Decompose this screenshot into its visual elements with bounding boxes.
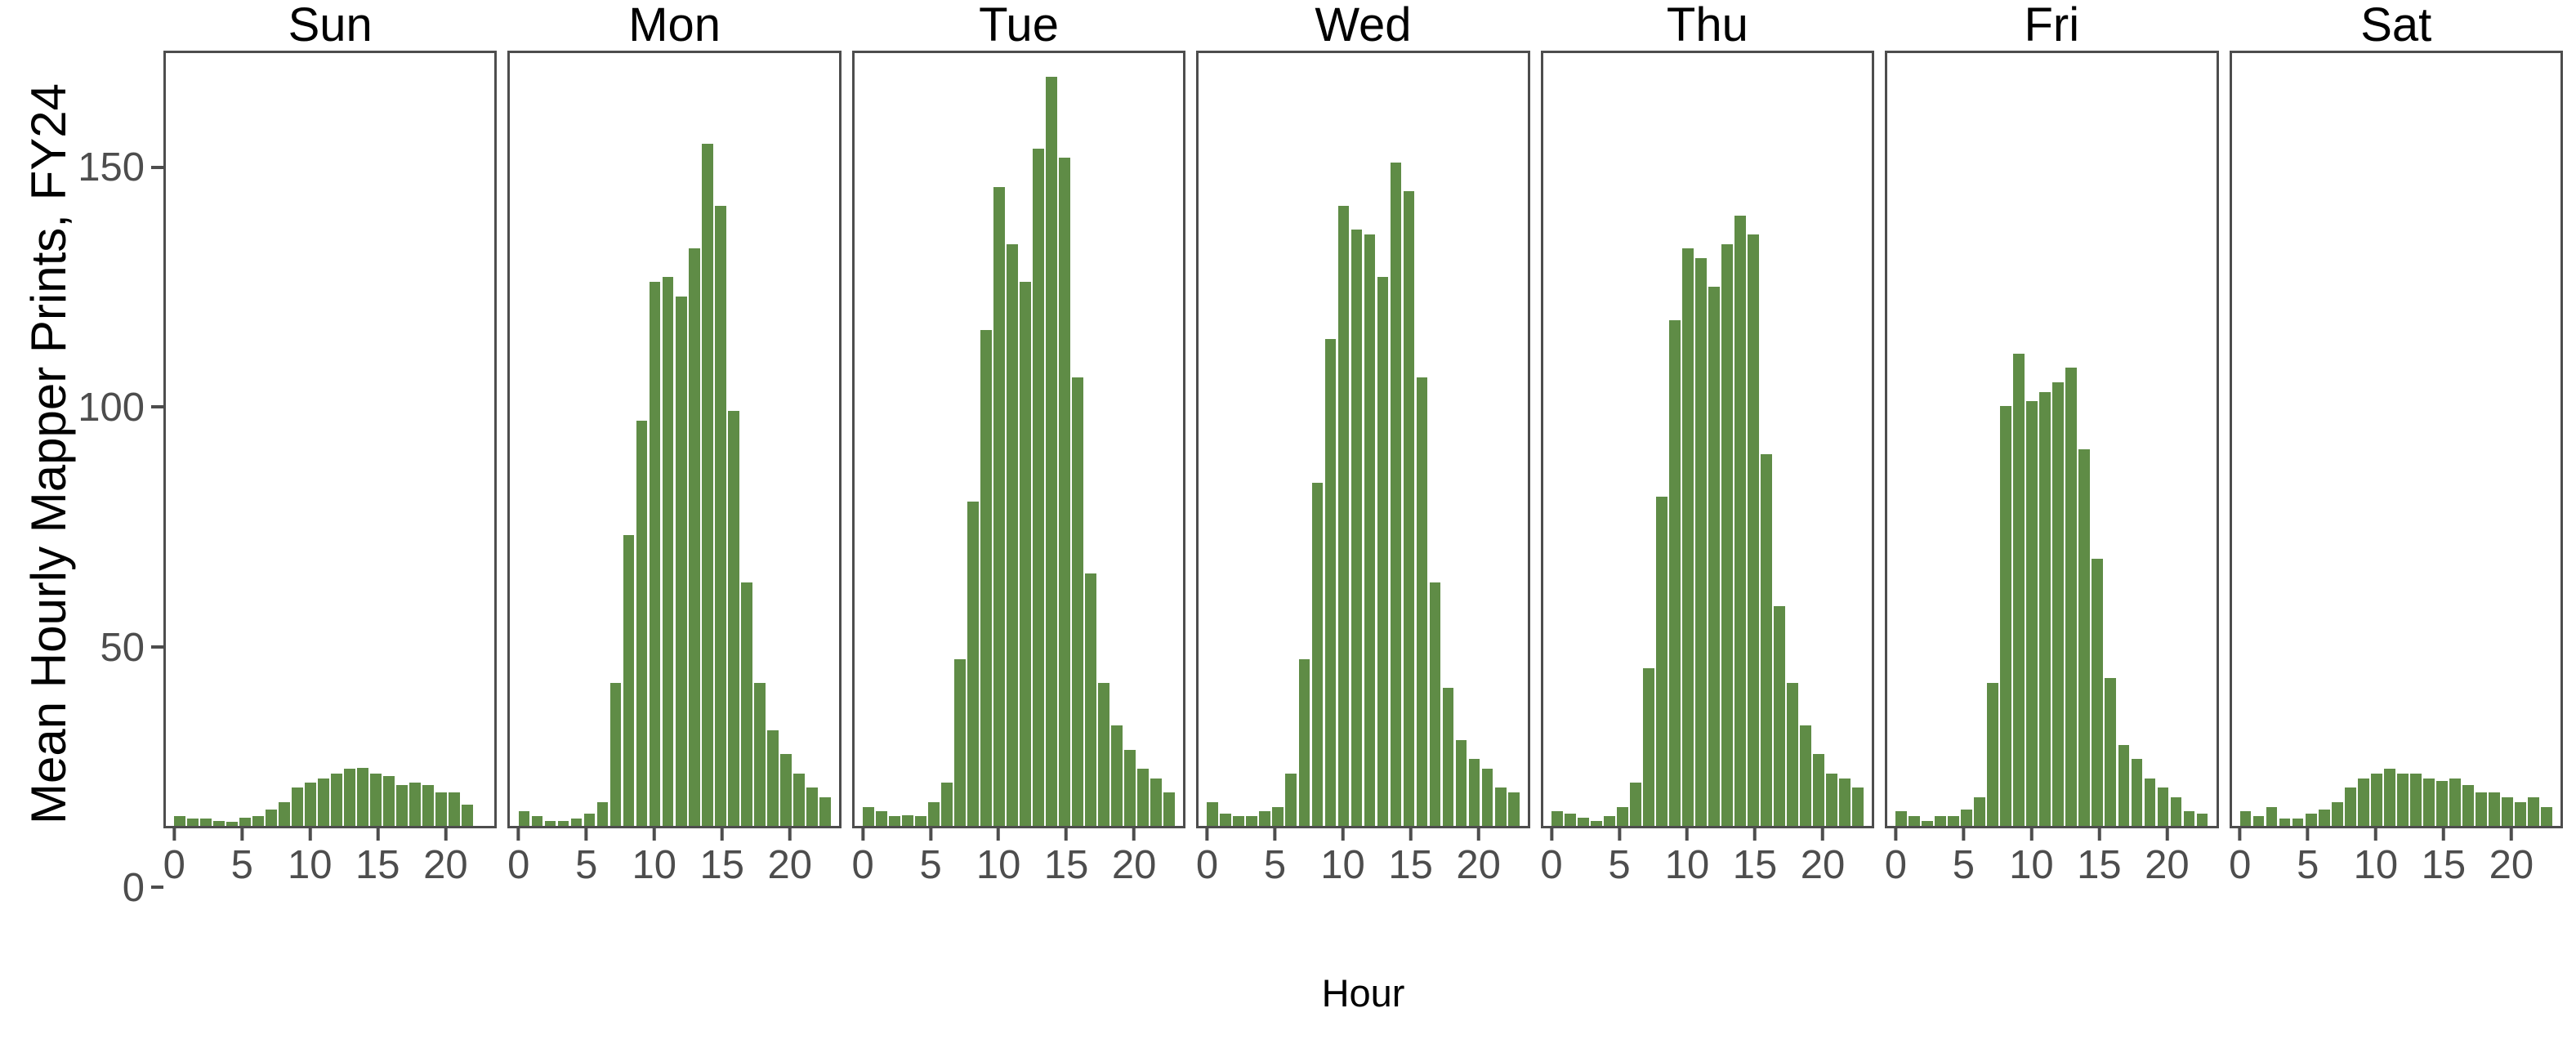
bar[interactable] [2184,811,2195,826]
bar[interactable] [1124,750,1136,826]
x-axis-tick-label: 15 [355,845,400,886]
bar-slot [1747,53,1760,826]
x-axis-tick: 0 [1196,828,1218,886]
bar[interactable] [2462,785,2474,826]
facet-panel-sun: Sun05101520 [163,0,497,907]
bar[interactable] [1734,216,1746,826]
bar[interactable] [597,802,609,826]
x-axis-tick: 10 [1665,828,1710,886]
bar[interactable] [623,535,635,826]
bar[interactable] [318,779,329,826]
bar[interactable] [741,582,752,826]
bar[interactable] [2197,814,2208,826]
bar[interactable] [2092,559,2103,826]
bar[interactable] [584,814,596,826]
bar-slot [1642,53,1655,826]
bar[interactable] [1551,811,1563,826]
facet-panel-thu: Thu05101520 [1541,0,1874,907]
bar[interactable] [2039,392,2051,826]
bar[interactable] [1748,234,1759,826]
bar[interactable] [915,816,926,826]
bar[interactable] [2253,816,2265,826]
bar-slot [1694,53,1708,826]
bar[interactable] [793,774,805,826]
bar[interactable] [1312,483,1324,826]
bar[interactable] [1325,339,1337,826]
x-axis-tick: 20 [1112,828,1157,886]
facet-strip-tue: Tue [852,0,1185,51]
bar-slot [2370,53,2383,826]
bar[interactable] [2515,802,2526,826]
bar[interactable] [1246,816,1257,826]
bar[interactable] [1721,244,1733,826]
bar[interactable] [1007,244,1018,826]
bar[interactable] [1150,779,1162,826]
bar[interactable] [344,769,355,826]
bar-slot [740,53,753,826]
bar-slot [1734,53,1747,826]
bar[interactable] [252,816,264,826]
bar[interactable] [1761,454,1772,826]
bar[interactable] [1826,774,1837,826]
bar[interactable] [1207,802,1218,826]
bar-slot [1150,53,1163,826]
bar-slot [408,53,422,826]
bar[interactable] [370,774,382,826]
x-axis-tick: 5 [231,828,253,886]
x-axis-tick-mark [1821,828,1824,841]
bar[interactable] [1813,754,1824,826]
bar[interactable] [1137,769,1149,826]
bar[interactable] [2026,401,2038,826]
bar-slot [543,53,556,826]
bar[interactable] [422,785,434,826]
bar-slot [2292,53,2305,826]
bar[interactable] [1909,816,1920,826]
x-axis-tick-label: 15 [2422,845,2467,886]
bar[interactable] [2145,779,2156,826]
bar[interactable] [1630,783,1641,826]
bar-slot [2252,53,2266,826]
bar[interactable] [1935,816,1946,826]
bar-slot [1629,53,1642,826]
x-axis-tick-label: 0 [163,845,185,886]
bar[interactable] [1046,77,1057,826]
bar-slot [888,53,901,826]
bar-slot [461,53,474,826]
bar[interactable] [1299,659,1310,826]
bar[interactable] [2132,759,2143,826]
x-axis-tick: 15 [1044,828,1089,886]
bar[interactable] [2000,406,2011,826]
x-axis-tick-mark [2306,828,2310,841]
bar[interactable] [1163,792,1175,826]
x-axis-tick-mark [1894,828,1897,841]
bar[interactable] [519,811,530,826]
plot-area-fri [1885,51,2218,828]
bar-group [510,53,838,826]
x-axis-tick-mark [2165,828,2168,841]
bar-slot [2078,53,2091,826]
x-axis-tick-label: 5 [231,845,253,886]
x-axis-tick-mark [1065,828,1068,841]
bar[interactable] [292,787,303,826]
bar[interactable] [1987,683,1998,826]
bar[interactable] [2528,797,2539,826]
x-axis-tick-label: 10 [976,845,1021,886]
bar[interactable] [331,774,342,826]
bar-slot [1032,53,1045,826]
y-axis-tick-mark [151,405,163,408]
bar[interactable] [1839,779,1851,826]
bar[interactable] [1377,277,1389,826]
bar[interactable] [383,776,395,826]
bar[interactable] [1695,258,1707,826]
bar[interactable] [806,787,818,826]
bar[interactable] [941,783,953,826]
bar-slot [2051,53,2065,826]
bar[interactable] [954,659,966,826]
x-axis-tick-mark [240,828,243,841]
bar[interactable] [993,187,1005,826]
bar[interactable] [2065,368,2077,826]
x-axis-tick-label: 15 [1388,845,1433,886]
y-axis-title-text: Mean Hourly Mapper Prints, FY24 [21,83,78,823]
bar-slot [1363,53,1376,826]
y-axis-tick-mark [151,645,163,649]
plot-area-thu [1541,51,1874,828]
bar[interactable] [1922,821,1933,826]
bar[interactable] [676,297,687,826]
bar[interactable] [2358,779,2369,826]
bar-slot [1908,53,1921,826]
bar-slot [1071,53,1084,826]
facet-panel-mon: Mon05101520 [507,0,841,907]
bar[interactable] [1098,683,1109,826]
bar[interactable] [2423,779,2435,826]
bar[interactable] [1259,811,1270,826]
x-axis-tick: 0 [507,828,529,886]
bar[interactable] [1443,688,1454,826]
facet-strip-sat: Sat [2230,0,2563,51]
bar[interactable] [396,785,408,826]
bar-slot [1786,53,1799,826]
bar[interactable] [650,282,661,826]
x-axis-tick-label: 0 [1196,845,1218,886]
bar[interactable] [1272,807,1284,826]
bar[interactable] [2489,792,2500,826]
bar[interactable] [357,768,368,826]
bar[interactable] [1617,807,1628,826]
bar[interactable] [226,822,238,826]
bar[interactable] [200,819,212,826]
bar[interactable] [2078,449,2090,826]
bar-slot [1429,53,1442,826]
bar[interactable] [1404,191,1415,826]
x-axis-tick-label: 10 [1320,845,1365,886]
bar[interactable] [266,810,277,826]
bar[interactable] [1852,787,1864,826]
bar[interactable] [1508,792,1520,826]
bar[interactable] [1948,816,1959,826]
y-axis-title: Mean Hourly Mapper Prints, FY24 [0,0,98,907]
bar-slot [875,53,888,826]
bar-slot [225,53,239,826]
bar[interactable] [663,277,674,826]
bar[interactable] [2279,819,2291,826]
bar[interactable] [819,797,831,826]
bar[interactable] [2105,678,2116,826]
x-axis-tick-label: 5 [1953,845,1975,886]
x-axis-tick-label: 10 [632,845,676,886]
bar[interactable] [2013,354,2025,826]
bar[interactable] [863,807,874,826]
bar-slot [199,53,212,826]
x-axis-sun: 05101520 [163,828,497,907]
bar-slot [1206,53,1219,826]
bar-slot [609,53,623,826]
bar-slot [2527,53,2540,826]
bar[interactable] [967,502,979,826]
bar[interactable] [2266,807,2278,826]
bar[interactable] [1233,816,1244,826]
bar-slot [2182,53,2195,826]
bar[interactable] [1085,573,1096,826]
x-axis-fri: 05101520 [1885,828,2218,907]
bar-slot [304,53,317,826]
x-axis-tick: 15 [2077,828,2122,886]
bar[interactable] [1220,814,1231,826]
facet-panel-sat: Sat05101520 [2230,0,2563,907]
x-axis-tick-mark [308,828,311,841]
bar[interactable] [409,783,421,826]
bar-slot [1455,53,1468,826]
bar[interactable] [1469,759,1480,826]
x-axis-tick-label: 20 [1801,845,1846,886]
bar[interactable] [2397,774,2409,826]
bar[interactable] [2345,787,2356,826]
bar[interactable] [2449,779,2461,826]
bar[interactable] [2476,792,2487,826]
bar-slot [2012,53,2025,826]
bar-slot [252,53,265,826]
bar-slot [1163,53,1176,826]
bar-slot [819,53,832,826]
bar[interactable] [1895,811,1907,826]
bar-slot [1110,53,1123,826]
bar-slot [623,53,636,826]
bar[interactable] [279,802,290,826]
bar[interactable] [2306,814,2317,826]
x-axis-tick-mark [1274,828,1277,841]
bar[interactable] [1708,287,1720,826]
y-axis-tick-label: 100 [78,388,151,428]
bar[interactable] [545,821,556,826]
bar[interactable] [2118,745,2130,826]
bar[interactable] [767,730,779,826]
bar[interactable] [889,816,900,826]
bar-slot [2357,53,2370,826]
bar-slot [343,53,356,826]
bar[interactable] [715,206,726,826]
bar-group [1887,53,2216,826]
bar[interactable] [1072,377,1083,826]
bar[interactable] [2332,802,2343,826]
bar-slot [1310,53,1324,826]
bar[interactable] [1565,814,1576,826]
bar[interactable] [1482,769,1493,826]
bar[interactable] [239,818,251,827]
bar[interactable] [876,811,887,826]
bar-slot [2266,53,2279,826]
bar-slot [2279,53,2292,826]
bar[interactable] [689,248,700,826]
facet-bar-chart-figure: Mean Hourly Mapper Prints, FY24 05010015… [0,0,2576,1044]
bar-slot [1668,53,1681,826]
bar-slot [1232,53,1245,826]
bar[interactable] [702,144,713,826]
x-axis-tick-mark [1753,828,1757,841]
x-axis-tick: 20 [2489,828,2534,886]
x-axis-tick-mark [1685,828,1689,841]
x-axis-tick: 10 [2009,828,2054,886]
bar[interactable] [636,421,648,826]
bar-slot [1655,53,1668,826]
bar[interactable] [1591,821,1602,826]
bar[interactable] [728,411,739,826]
x-axis-tick-label: 0 [507,845,529,886]
x-axis-tick-mark [585,828,588,841]
bar[interactable] [1020,282,1031,826]
bar-slot [901,53,914,826]
bar[interactable] [532,816,543,826]
bar[interactable] [305,783,316,826]
bar[interactable] [2371,774,2382,826]
x-axis-tick: 5 [919,828,941,886]
x-axis-tick: 15 [1388,828,1433,886]
bar-slot [1851,53,1864,826]
bar[interactable] [1961,810,1972,826]
bar[interactable] [462,805,473,826]
bar[interactable] [1364,234,1376,826]
bar[interactable] [2052,382,2064,826]
bar[interactable] [1656,497,1667,826]
bar[interactable] [2293,819,2304,826]
x-axis-tick-label: 5 [919,845,941,886]
bar[interactable] [558,821,569,826]
x-axis-tick-label: 20 [423,845,468,886]
x-axis-tick-mark [2442,828,2445,841]
facet-strip-thu: Thu [1541,0,1874,51]
facet-strip-sun: Sun [163,0,497,51]
bar-slot [474,53,487,826]
bar[interactable] [2436,781,2448,826]
bar[interactable] [1974,797,1985,826]
bar-group [166,53,494,826]
x-axis-tick: 0 [1540,828,1562,886]
bar[interactable] [1391,163,1402,826]
x-axis-tick-label: 5 [2297,845,2319,886]
bar[interactable] [610,683,622,826]
bar[interactable] [213,821,225,826]
bar[interactable] [2502,797,2513,826]
bar[interactable] [1800,725,1811,826]
bar[interactable] [780,754,792,826]
bar-slot [1986,53,1999,826]
x-axis-tick-label: 20 [2145,845,2190,886]
facet-strip-fri: Fri [1885,0,2218,51]
bar[interactable] [1430,582,1441,826]
bar-slot [435,53,448,826]
x-axis-tick-label: 10 [1665,845,1710,886]
bar-slot [779,53,792,826]
bar-slot [1825,53,1838,826]
bar-slot [2169,53,2182,826]
bar[interactable] [1338,206,1350,826]
bar[interactable] [754,683,766,826]
bar[interactable] [1033,149,1044,826]
bar[interactable] [2410,774,2422,826]
bar[interactable] [1111,725,1123,826]
bar[interactable] [928,802,940,826]
bar[interactable] [2171,797,2182,826]
bar[interactable] [1456,740,1467,826]
bar-slot [2396,53,2409,826]
bar[interactable] [1059,158,1070,826]
x-axis-tick: 0 [851,828,873,886]
bar[interactable] [1774,606,1785,826]
bar[interactable] [571,819,583,826]
x-axis-tick: 0 [2229,828,2251,886]
bar-slot [2449,53,2462,826]
bar[interactable] [187,819,199,826]
bar[interactable] [1669,320,1681,826]
x-axis-title: Hour [163,974,2563,1012]
x-axis-tick-mark [653,828,656,841]
bar[interactable] [449,792,460,826]
x-axis-tick-mark [788,828,792,841]
bar-slot [688,53,701,826]
bar-slot [1258,53,1271,826]
bar[interactable] [1578,818,1589,827]
bar-slot [1324,53,1337,826]
bar-slot [317,53,330,826]
bar[interactable] [435,792,447,826]
bar-slot [330,53,343,826]
bar[interactable] [2319,810,2330,826]
bar[interactable] [980,330,992,826]
bar[interactable] [1643,668,1654,826]
bar-slot [2344,53,2357,826]
bar-slot [278,53,291,826]
bar-slot [967,53,980,826]
bar[interactable] [2158,787,2169,826]
bar[interactable] [1787,683,1798,826]
bar[interactable] [1351,230,1363,826]
bar[interactable] [2384,769,2395,826]
bar[interactable] [1682,248,1694,826]
bar[interactable] [174,816,185,826]
bar[interactable] [902,815,913,826]
bar[interactable] [1417,377,1428,826]
bar[interactable] [2240,811,2252,826]
bar[interactable] [1285,774,1297,826]
bar-slot [1564,53,1577,826]
facet-strip-label: Fri [2025,2,2080,49]
bar[interactable] [1495,787,1507,826]
bar[interactable] [1604,816,1615,826]
bar[interactable] [2541,807,2552,826]
